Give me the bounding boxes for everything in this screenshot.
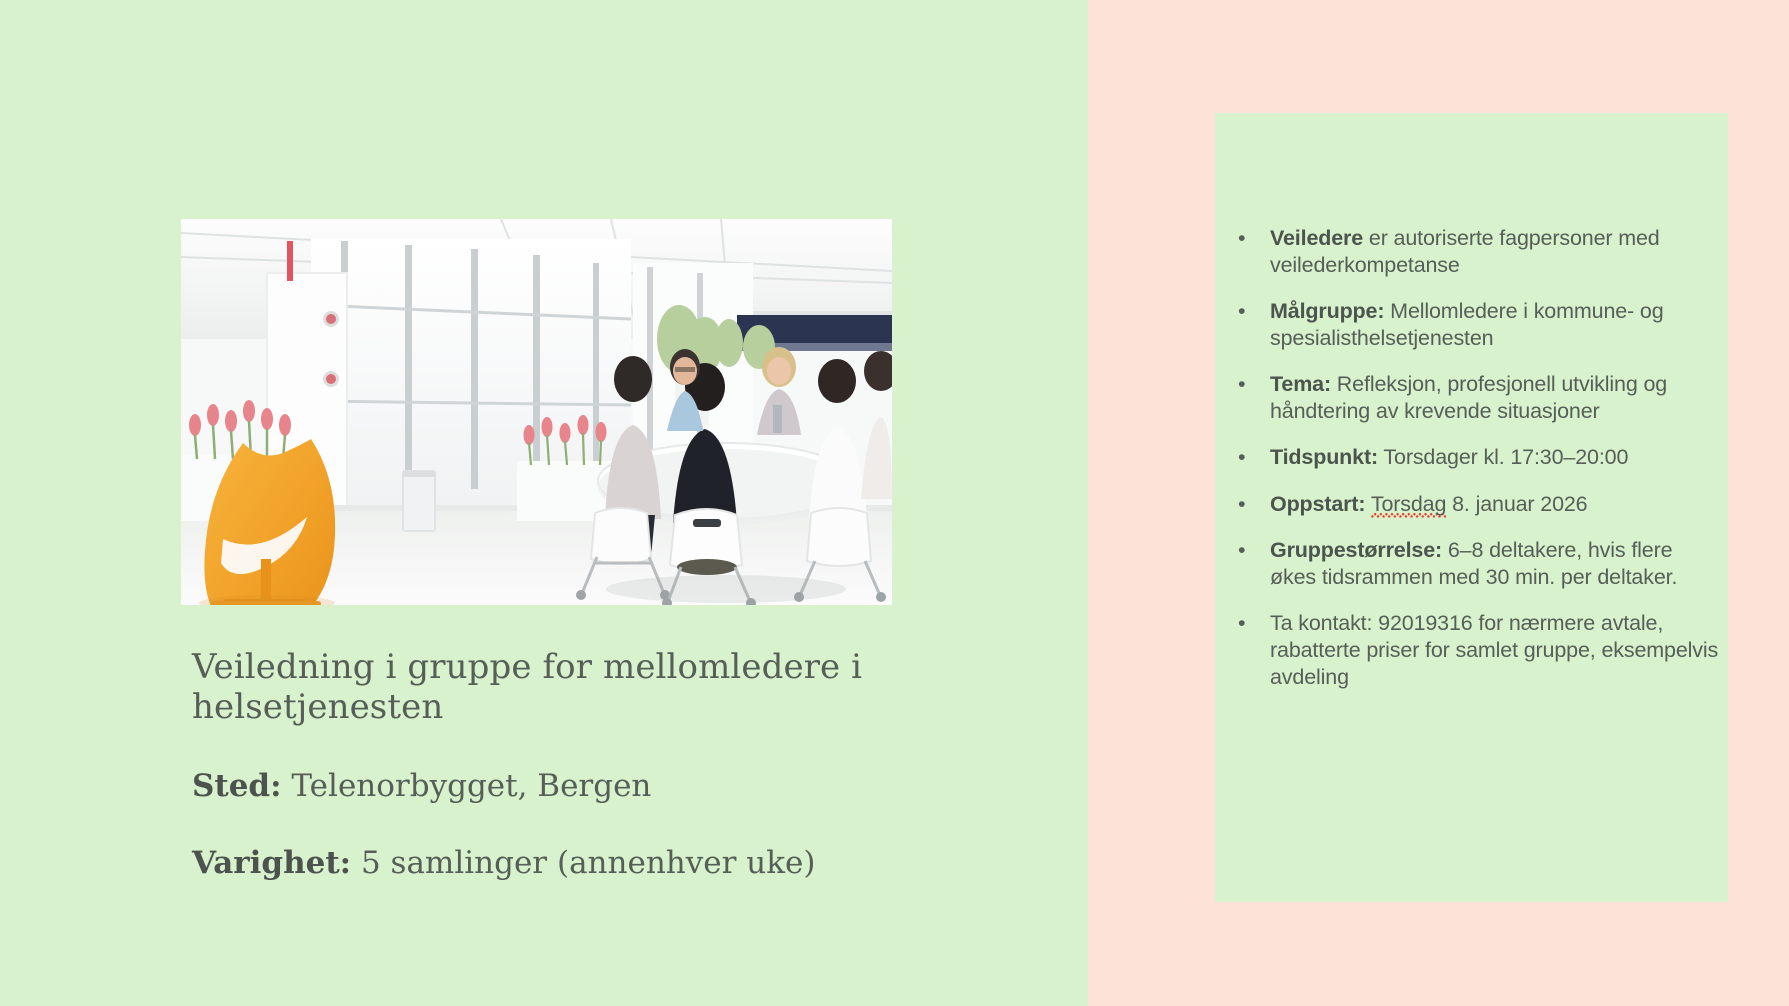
list-item: • Tema: Refleksjon, profesjonell utvikli… [1225, 371, 1721, 425]
left-content-panel: Veiledning i gruppe for mellomledere i h… [0, 0, 1088, 1006]
info-card: • Veiledere er autoriserte fagpersoner m… [1215, 113, 1728, 902]
meta-label-sted: Sted: [192, 768, 282, 804]
list-item: • Gruppestørrelse: 6–8 deltakere, hvis f… [1225, 537, 1721, 591]
bullet-bold-0: Veiledere [1270, 226, 1363, 250]
bullet-text-4-after: 8. januar 2026 [1446, 492, 1587, 516]
bullet-dot-icon: • [1238, 225, 1245, 252]
bullet-dot-icon: • [1238, 537, 1245, 564]
meeting-photo [181, 219, 892, 605]
bullet-text-3: Torsdager kl. 17:30–20:00 [1378, 445, 1628, 469]
meta-line-varighet: Varighet: 5 samlinger (annenhver uke) [192, 845, 912, 882]
list-item: • Målgruppe: Mellomledere i kommune- og … [1225, 298, 1721, 352]
page-title: Veiledning i gruppe for mellomledere i h… [192, 648, 912, 728]
office-photo-graphic [181, 219, 892, 605]
bullet-dot-icon: • [1238, 444, 1245, 471]
meta-value-sted: Telenorbygget, Bergen [282, 768, 652, 804]
meta-value-varighet: 5 samlinger (annenhver uke) [351, 845, 815, 881]
bullet-dot-icon: • [1238, 298, 1245, 325]
list-item: • Tidspunkt: Torsdager kl. 17:30–20:00 [1225, 444, 1721, 471]
list-item: • Ta kontakt: 92019316 for nærmere avtal… [1225, 610, 1721, 691]
bullet-bold-5: Gruppestørrelse: [1270, 538, 1442, 562]
list-item: • Veiledere er autoriserte fagpersoner m… [1225, 225, 1721, 279]
slide-canvas: Veiledning i gruppe for mellomledere i h… [0, 0, 1789, 1006]
bullet-bold-3: Tidspunkt: [1270, 445, 1378, 469]
bullet-bold-2: Tema: [1270, 372, 1331, 396]
left-text-block: Veiledning i gruppe for mellomledere i h… [192, 648, 912, 882]
meta-label-varighet: Varighet: [192, 845, 351, 881]
spellcheck-misspelled-word: Torsdag [1371, 492, 1446, 518]
info-bullet-list: • Veiledere er autoriserte fagpersoner m… [1225, 225, 1721, 691]
list-item: • Oppstart: Torsdag 8. januar 2026 [1225, 491, 1721, 518]
bullet-text-6: Ta kontakt: 92019316 for nærmere avtale,… [1270, 611, 1718, 689]
bullet-bold-1: Målgruppe: [1270, 299, 1384, 323]
meta-line-sted: Sted: Telenorbygget, Bergen [192, 768, 912, 805]
bullet-dot-icon: • [1238, 610, 1245, 637]
bullet-dot-icon: • [1238, 371, 1245, 398]
bullet-dot-icon: • [1238, 491, 1245, 518]
bullet-bold-4: Oppstart: [1270, 492, 1365, 516]
